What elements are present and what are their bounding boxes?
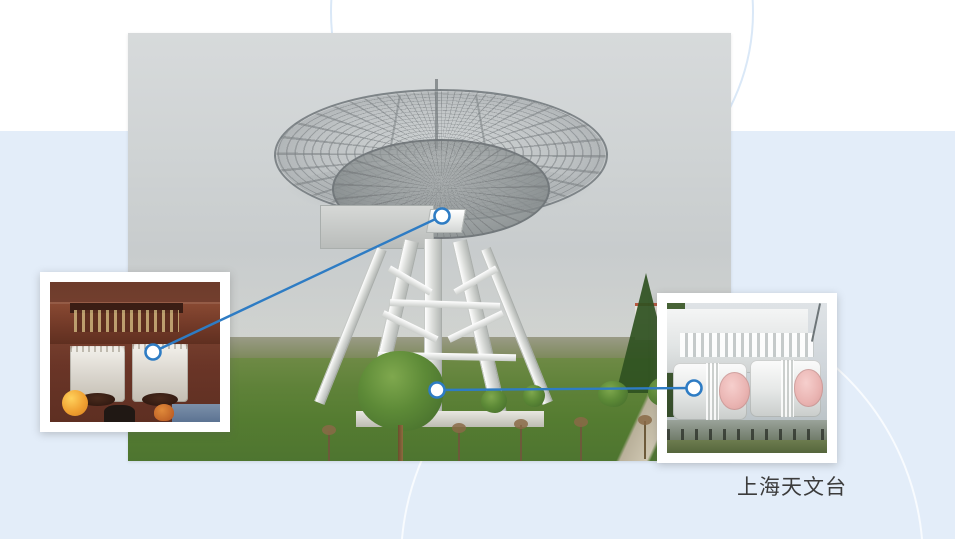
slide-canvas: 上海天文台	[0, 0, 955, 539]
pink-end-cap-left	[719, 372, 750, 410]
foreground-tree-trunk	[398, 425, 403, 461]
sapling-4	[580, 423, 582, 461]
foreground-tree	[358, 351, 444, 431]
pink-end-cap-right	[794, 369, 824, 407]
mount-instrument-box	[426, 209, 466, 233]
sapling-leaf-3	[514, 419, 528, 429]
inset-left	[40, 272, 230, 432]
shrub-2	[523, 385, 545, 407]
sapling-5	[644, 421, 646, 459]
sapling-3	[520, 425, 522, 461]
sapling-leaf-1	[322, 425, 336, 435]
cylinder-flange	[132, 344, 188, 350]
cylinder-flange	[70, 346, 124, 352]
sapling-leaf-4	[574, 417, 588, 427]
cylinder-band	[706, 363, 719, 420]
shrub-1	[481, 389, 507, 413]
sapling-1	[328, 431, 330, 461]
new-cylinder-left	[673, 363, 747, 420]
machine-ribs	[680, 333, 814, 357]
rusty-gear-slots	[74, 310, 179, 332]
inset-right	[657, 293, 837, 463]
cylinder-band	[781, 360, 794, 417]
old-cylinder-right	[132, 344, 188, 403]
worker-clothing	[172, 404, 220, 422]
page-caption: 上海天文台	[737, 471, 847, 501]
shadow-blob	[104, 405, 135, 422]
foreground-grass	[667, 440, 827, 454]
worker-helmet	[154, 404, 174, 421]
inset-left-image	[50, 282, 220, 422]
sapling-leaf-2	[452, 423, 466, 433]
base-bolts	[667, 429, 827, 440]
sapling-2	[458, 429, 460, 461]
new-cylinder-right	[750, 360, 820, 417]
inset-right-image	[667, 303, 827, 453]
sapling-leaf-5	[638, 415, 652, 425]
shrub-3	[598, 381, 628, 407]
